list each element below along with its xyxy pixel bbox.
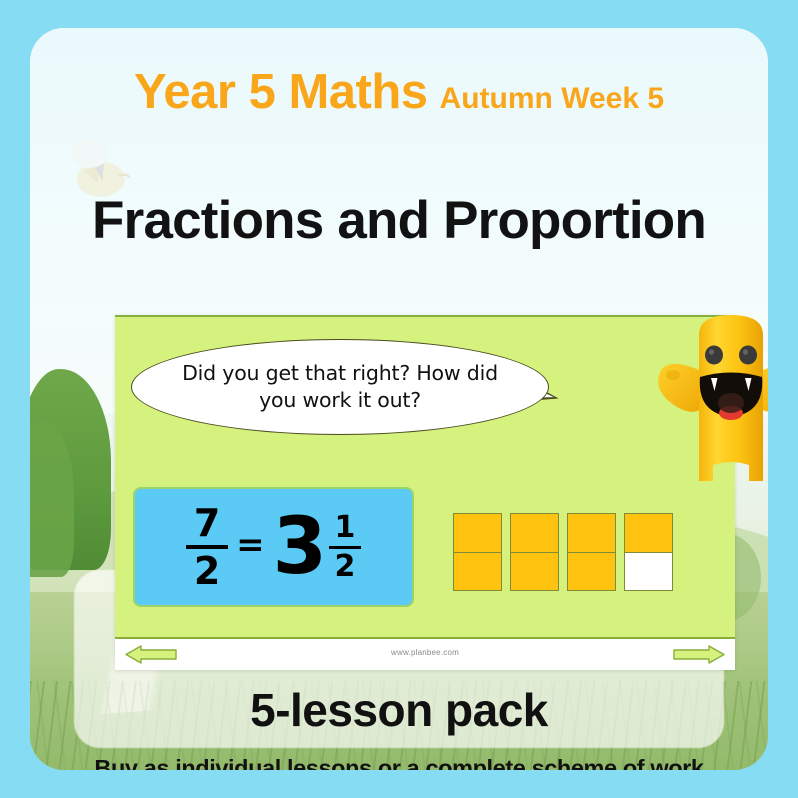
subject-title: Year 5 Maths [134, 65, 428, 119]
fraction-part-filled [568, 514, 615, 552]
speech-bubble-text: Did you get that right? How did you work… [132, 360, 548, 413]
improper-numerator: 7 [194, 504, 220, 542]
next-arrow-icon[interactable] [673, 645, 725, 664]
slide-footer: www.planbee.com [115, 639, 735, 670]
fraction-square [453, 513, 502, 591]
fraction-square [510, 513, 559, 591]
equation-box: 7 2 = 3 1 2 [133, 487, 414, 607]
buy-option-label: Buy as individual lessons or a complete … [30, 755, 768, 770]
page-title: Fractions and Proportion [30, 190, 768, 251]
fraction-part-empty [625, 552, 672, 591]
product-thumbnail: Year 5 MathsAutumn Week 5 Fractions and … [0, 0, 798, 798]
header: Year 5 MathsAutumn Week 5 [30, 64, 768, 120]
fraction-part-filled [511, 552, 558, 591]
term-label: Autumn Week 5 [440, 82, 665, 115]
monster-character-icon [655, 305, 768, 515]
speech-bubble: Did you get that right? How did you work… [131, 339, 549, 435]
mixed-denominator: 2 [334, 552, 355, 582]
slide-canvas: Did you get that right? How did you work… [115, 315, 735, 639]
pack-label: 5-lesson pack [30, 683, 768, 737]
improper-denominator: 2 [194, 552, 220, 590]
mixed-fraction-part: 1 2 [329, 513, 361, 582]
mixed-number: 3 1 2 [273, 512, 361, 582]
fraction-part-filled [625, 514, 672, 552]
fraction-part-filled [454, 514, 501, 552]
fraction-part-filled [454, 552, 501, 591]
fraction-model [453, 513, 673, 591]
mixed-numerator: 1 [334, 513, 355, 543]
fraction-square [624, 513, 673, 591]
fraction-part-filled [511, 514, 558, 552]
improper-fraction: 7 2 [186, 504, 228, 590]
fraction-square [567, 513, 616, 591]
slide-preview[interactable]: Did you get that right? How did you work… [115, 315, 735, 670]
mixed-whole-part: 3 [273, 512, 327, 582]
content-panel: Year 5 MathsAutumn Week 5 Fractions and … [30, 28, 768, 770]
slide-footer-url: www.planbee.com [115, 648, 735, 657]
fraction-part-filled [568, 552, 615, 591]
equals-sign: = [236, 525, 265, 569]
